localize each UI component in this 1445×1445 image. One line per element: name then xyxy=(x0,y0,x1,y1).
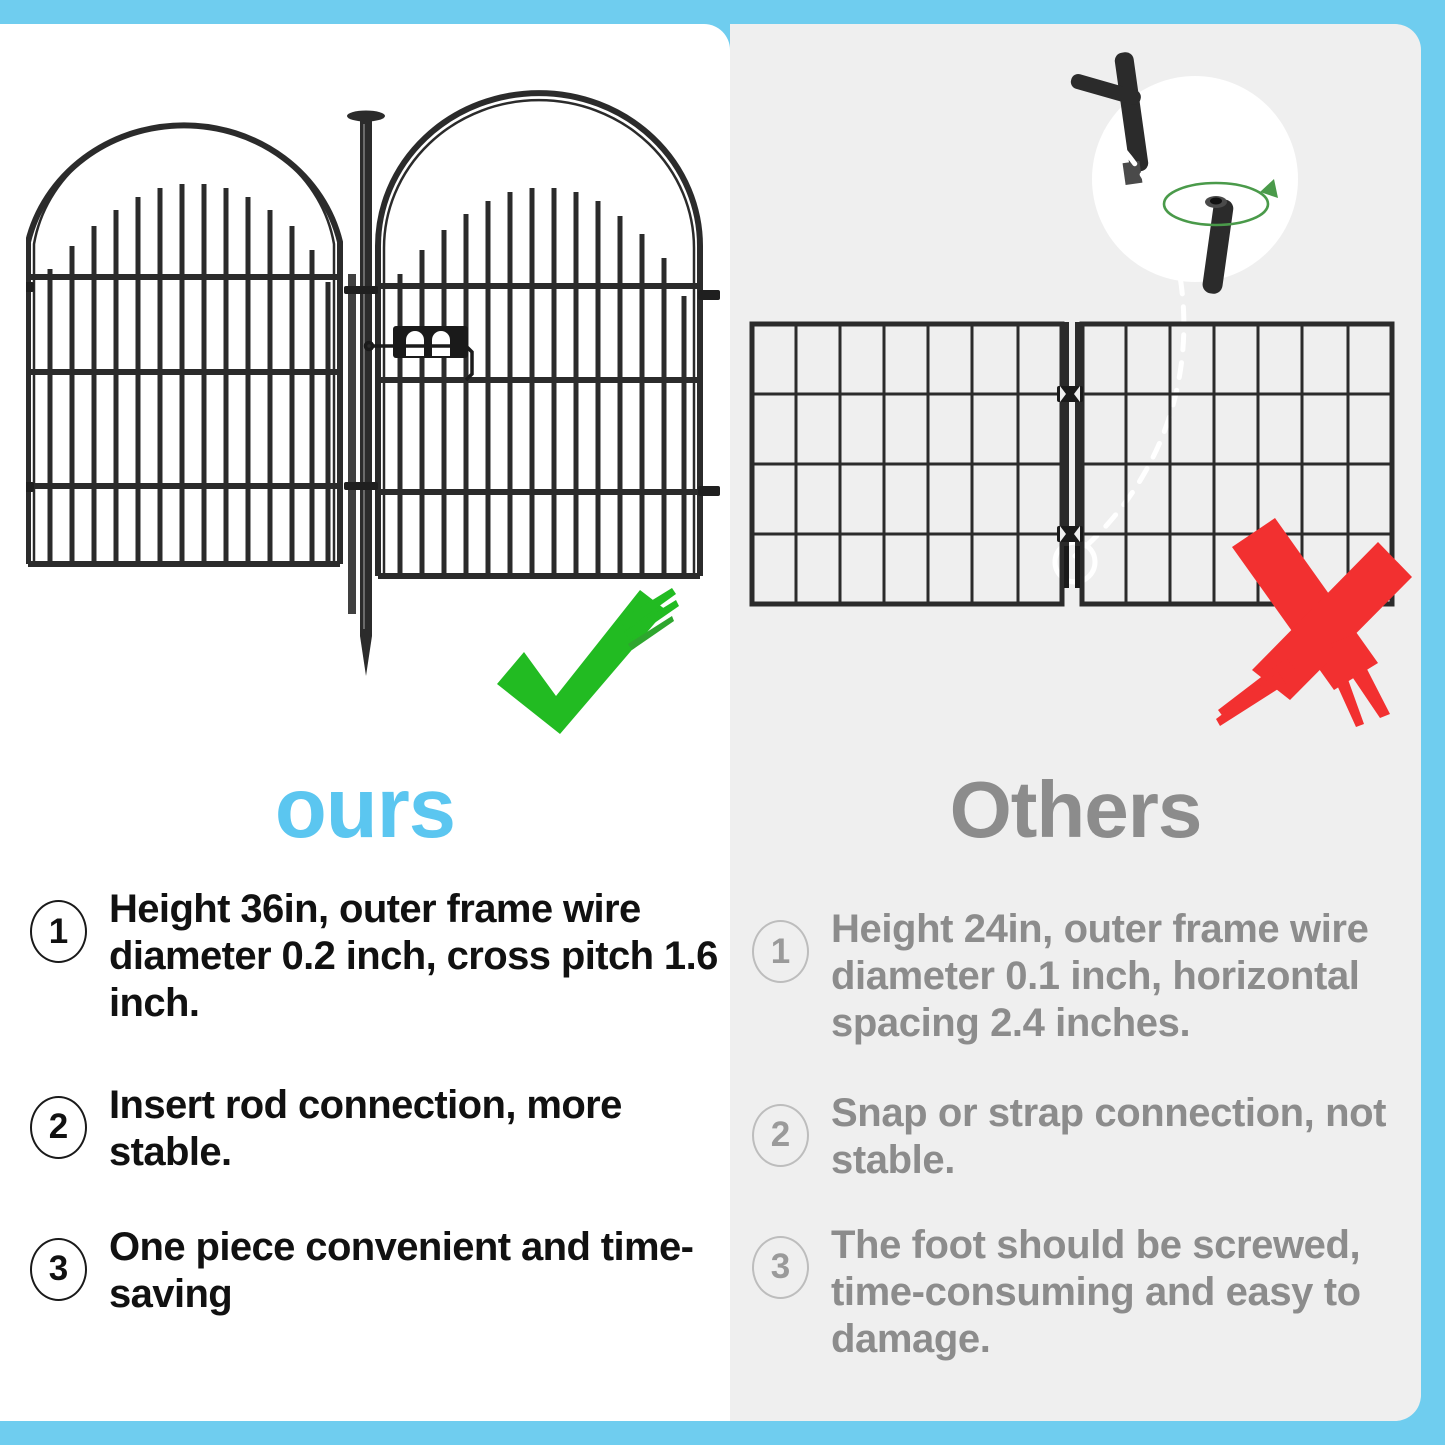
feature-row: 1 Height 24in, outer frame wire diameter… xyxy=(752,906,1412,1048)
ours-panel: ours 1 Height 36in, outer frame wire dia… xyxy=(0,24,730,1421)
feature-row: 2 Insert rod connection, more stable. xyxy=(30,1082,720,1176)
grid-fence-panel-right xyxy=(1082,324,1392,604)
ours-illustration xyxy=(0,24,730,784)
feature-number-badge: 3 xyxy=(752,1236,809,1299)
red-cross-icon xyxy=(1216,518,1412,727)
t-handle-wrench xyxy=(1069,51,1149,185)
rod-cap xyxy=(347,111,385,122)
feature-text: Insert rod connection, more stable. xyxy=(87,1082,720,1176)
others-heading: Others xyxy=(730,764,1421,856)
feature-text: One piece convenient and time-saving xyxy=(87,1224,720,1318)
ours-feature-list: 1 Height 36in, outer frame wire diameter… xyxy=(30,886,720,1344)
side-connector-tabs-right xyxy=(698,290,720,496)
others-panel: Others 1 Height 24in, outer frame wire d… xyxy=(730,24,1421,1421)
others-illustration xyxy=(730,24,1421,784)
callout-endpoint-circle xyxy=(1055,542,1095,582)
green-check-icon xyxy=(497,588,679,734)
side-connector-tabs xyxy=(14,282,34,492)
feature-row: 1 Height 36in, outer frame wire diameter… xyxy=(30,886,720,1028)
snap-strap-connector-lower xyxy=(1057,526,1083,542)
dashed-callout-arc xyxy=(1075,132,1184,556)
feature-number-badge: 1 xyxy=(752,920,809,983)
center-join-posts xyxy=(1064,322,1080,588)
circular-inset-detail xyxy=(1069,51,1298,295)
feature-text: Height 24in, outer frame wire diameter 0… xyxy=(809,906,1412,1048)
feature-number-badge: 2 xyxy=(752,1104,809,1167)
latch-wire-hook xyxy=(366,343,473,381)
rotation-arrow xyxy=(1164,179,1278,225)
feature-text: Height 36in, outer frame wire diameter 0… xyxy=(87,886,720,1028)
feature-row: 2 Snap or strap connection, not stable. xyxy=(752,1090,1412,1184)
arched-fence-panel-right xyxy=(378,93,700,576)
others-feature-list: 1 Height 24in, outer frame wire diameter… xyxy=(752,906,1412,1390)
feature-number-badge: 1 xyxy=(30,900,87,963)
feature-text: Snap or strap connection, not stable. xyxy=(809,1090,1412,1184)
feature-text: The foot should be screwed, time-consumi… xyxy=(809,1222,1412,1364)
center-insert-rod-stake xyxy=(344,111,385,677)
feature-number-badge: 2 xyxy=(30,1096,87,1159)
arched-fence-panel-left xyxy=(28,124,340,564)
infographic-canvas: ours 1 Height 36in, outer frame wire dia… xyxy=(0,0,1445,1445)
feature-row: 3 One piece convenient and time-saving xyxy=(30,1224,720,1318)
feature-row: 3 The foot should be screwed, time-consu… xyxy=(752,1222,1412,1364)
screw-in-foot-stake xyxy=(1201,196,1234,295)
latch-bracket xyxy=(393,326,468,358)
snap-strap-connector-upper xyxy=(1057,386,1083,402)
grid-fence-panel-left xyxy=(752,324,1062,604)
ours-heading: ours xyxy=(0,760,730,858)
feature-number-badge: 3 xyxy=(30,1238,87,1301)
